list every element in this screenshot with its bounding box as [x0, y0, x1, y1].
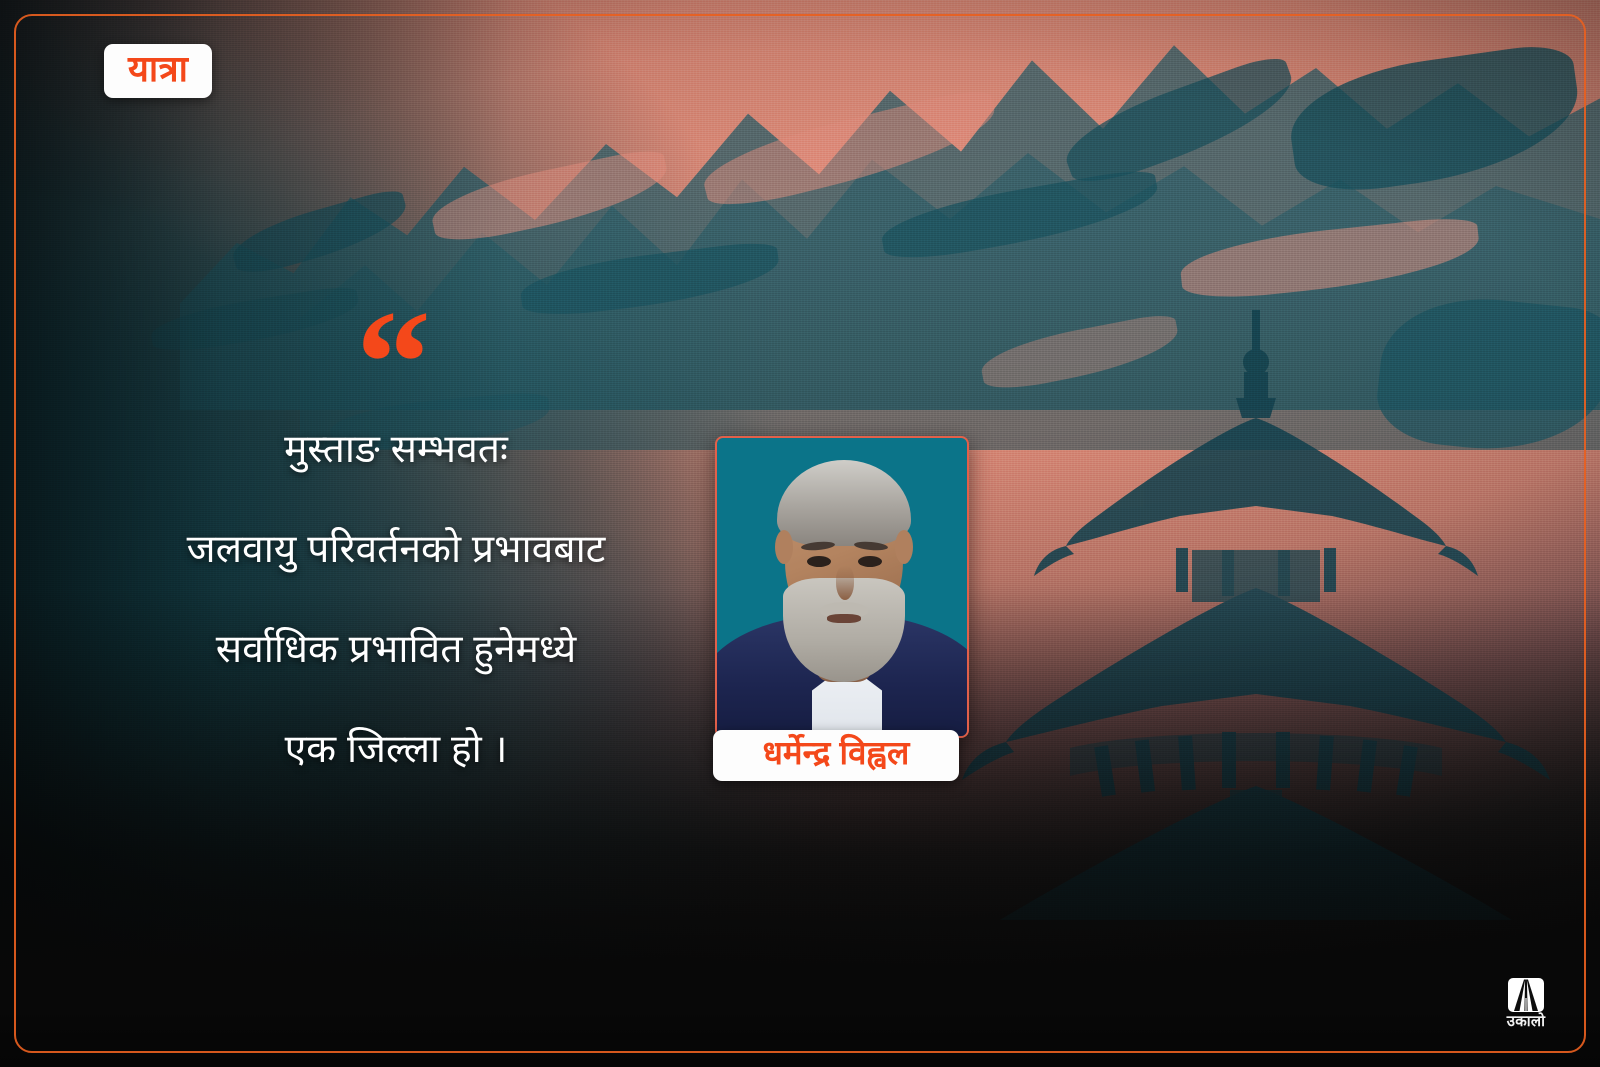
- portrait-eye-left: [807, 556, 831, 567]
- brand-wordmark: उकालो: [1498, 1014, 1554, 1029]
- portrait-eye-right: [858, 556, 882, 567]
- portrait-ear-left: [775, 530, 793, 564]
- portrait-hair: [777, 460, 911, 546]
- speaker-name-badge: धर्मेन्द्र विह्वल: [713, 730, 959, 781]
- uphill-road-icon: [1506, 978, 1546, 1012]
- speaker-name-label: धर्मेन्द्र विह्वल: [713, 736, 959, 771]
- speaker-portrait: [715, 436, 969, 738]
- brand-logo[interactable]: उकालो: [1498, 978, 1554, 1029]
- portrait-mouth: [827, 614, 861, 623]
- quote-line: एक जिल्ला हो ।: [96, 700, 696, 800]
- quote-line: जलवायु परिवर्तनको प्रभावबाट: [96, 500, 696, 600]
- category-badge-label: यात्रा: [128, 51, 188, 87]
- portrait-nose: [836, 566, 854, 600]
- portrait-ear-right: [895, 530, 913, 564]
- poster-canvas: यात्रा “ मुस्ताङ सम्भवतः जलवायु परिवर्तन…: [0, 0, 1600, 1067]
- quote-line: मुस्ताङ सम्भवतः: [96, 400, 696, 500]
- category-badge[interactable]: यात्रा: [104, 44, 212, 98]
- quote-text-block: मुस्ताङ सम्भवतः जलवायु परिवर्तनको प्रभाव…: [96, 400, 696, 800]
- quote-line: सर्वाधिक प्रभावित हुनेमध्ये: [96, 600, 696, 700]
